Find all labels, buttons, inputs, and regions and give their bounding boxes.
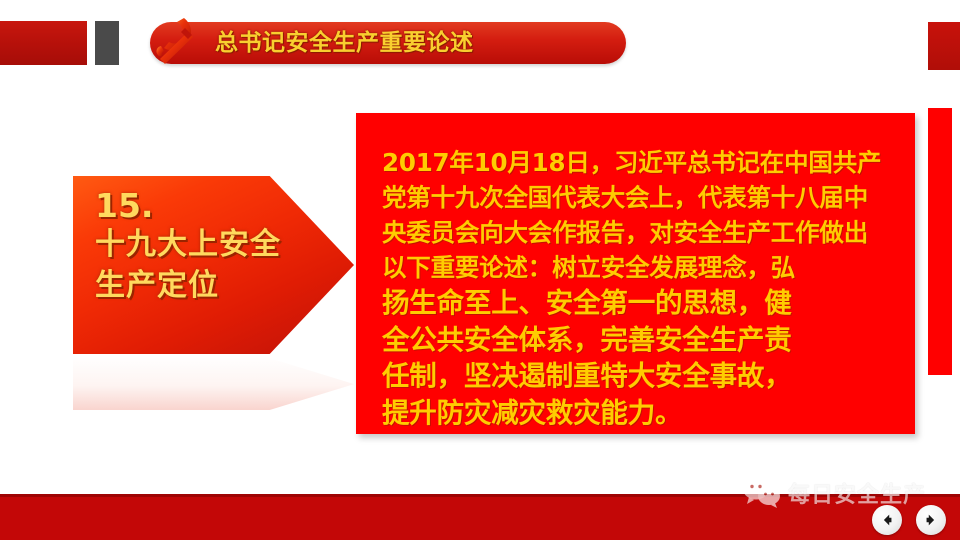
header-gray-block — [95, 21, 119, 65]
section-callout-arrow: 15. 十九大上安全 生产定位 — [73, 176, 354, 354]
content-line: 全公共安全体系，完善安全生产责 — [382, 322, 894, 359]
right-accent-bar — [928, 108, 952, 375]
content-line: 扬生命至上、安全第一的思想，健 — [382, 285, 894, 322]
content-line: 以下重要论述：树立安全发展理念，弘 — [382, 250, 894, 285]
callout-arrow-reflection — [73, 356, 354, 410]
party-hammer-sickle-emblem-icon — [144, 12, 204, 70]
content-line: 提升防灾减灾救灾能力。 — [382, 395, 894, 432]
content-line: 任制，坚决遏制重特大安全事故， — [382, 358, 894, 395]
callout-line-1: 十九大上安全 — [95, 224, 315, 265]
callout-number: 15. — [95, 188, 315, 224]
content-line: 央委员会向大会作报告，对安全生产工作做出 — [382, 215, 894, 250]
header-banner-title: 总书记安全生产重要论述 — [215, 26, 615, 60]
content-line: 党第十九次全国代表大会上，代表第十八届中 — [382, 180, 894, 215]
wechat-icon — [742, 477, 782, 509]
main-content-text: 2017年10月18日，习近平总书记在中国共产 党第十九次全国代表大会上，代表第… — [382, 145, 894, 431]
arrow-left-icon[interactable] — [872, 505, 902, 535]
content-line: 2017年10月18日，习近平总书记在中国共产 — [382, 145, 894, 180]
arrow-right-icon[interactable] — [916, 505, 946, 535]
callout-text-group: 15. 十九大上安全 生产定位 — [95, 188, 315, 306]
callout-line-2: 生产定位 — [95, 265, 315, 306]
slide-navigation — [872, 505, 946, 535]
main-content-box: 2017年10月18日，习近平总书记在中国共产 党第十九次全国代表大会上，代表第… — [356, 113, 915, 434]
slide-canvas: 总书记安全生产重要论述 15. 十九大上安全 生产定位 2017年10月18日，… — [0, 0, 960, 540]
header-corner-accent — [928, 22, 960, 70]
header-red-block — [0, 21, 87, 65]
